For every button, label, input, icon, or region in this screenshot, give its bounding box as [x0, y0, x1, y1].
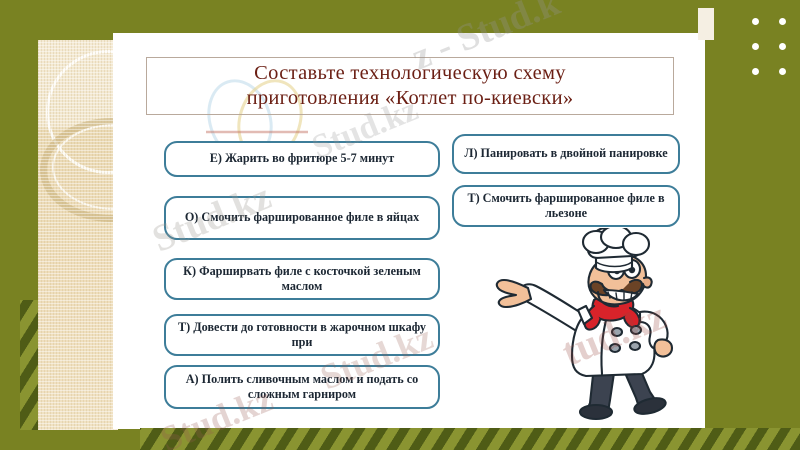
decorative-tab: [698, 8, 714, 40]
dot-icon: [779, 43, 786, 50]
dot-icon: [752, 68, 759, 75]
title-line-2: приготовления «Котлет по-киевски»: [247, 86, 574, 111]
answer-box-t-lezon[interactable]: Т) Смочить фаршированное филе в льезоне: [452, 185, 680, 227]
answer-box-a[interactable]: А) Полить сливочным маслом и подать со с…: [164, 365, 440, 409]
answer-box-k[interactable]: К) Фарширвать филе с косточкой зеленым м…: [164, 258, 440, 300]
page-title: Составьте технологическую схему приготов…: [146, 57, 674, 115]
dot-icon: [752, 18, 759, 25]
decorative-side-panel: [38, 40, 118, 430]
dot-icon: [779, 18, 786, 25]
answer-box-e[interactable]: E) Жарить во фритюре 5-7 минут: [164, 141, 440, 177]
dot-icon: [779, 68, 786, 75]
answer-box-o[interactable]: О) Смочить фаршированное филе в яйцах: [164, 196, 440, 240]
decorative-dots-grid: [752, 18, 786, 78]
answer-box-l[interactable]: Л) Панировать в двойной панировке: [452, 134, 680, 174]
cartoon-chef-illustration: [490, 228, 695, 423]
diagonal-stripes-bottom: [140, 428, 800, 450]
dot-icon: [752, 43, 759, 50]
title-text: Составьте технологическую схему приготов…: [241, 61, 580, 111]
answer-box-t-oven[interactable]: Т) Довести до готовности в жарочном шкаф…: [164, 314, 440, 356]
title-line-1: Составьте технологическую схему: [247, 61, 574, 86]
presentation-slide: Составьте технологическую схему приготов…: [0, 0, 800, 450]
